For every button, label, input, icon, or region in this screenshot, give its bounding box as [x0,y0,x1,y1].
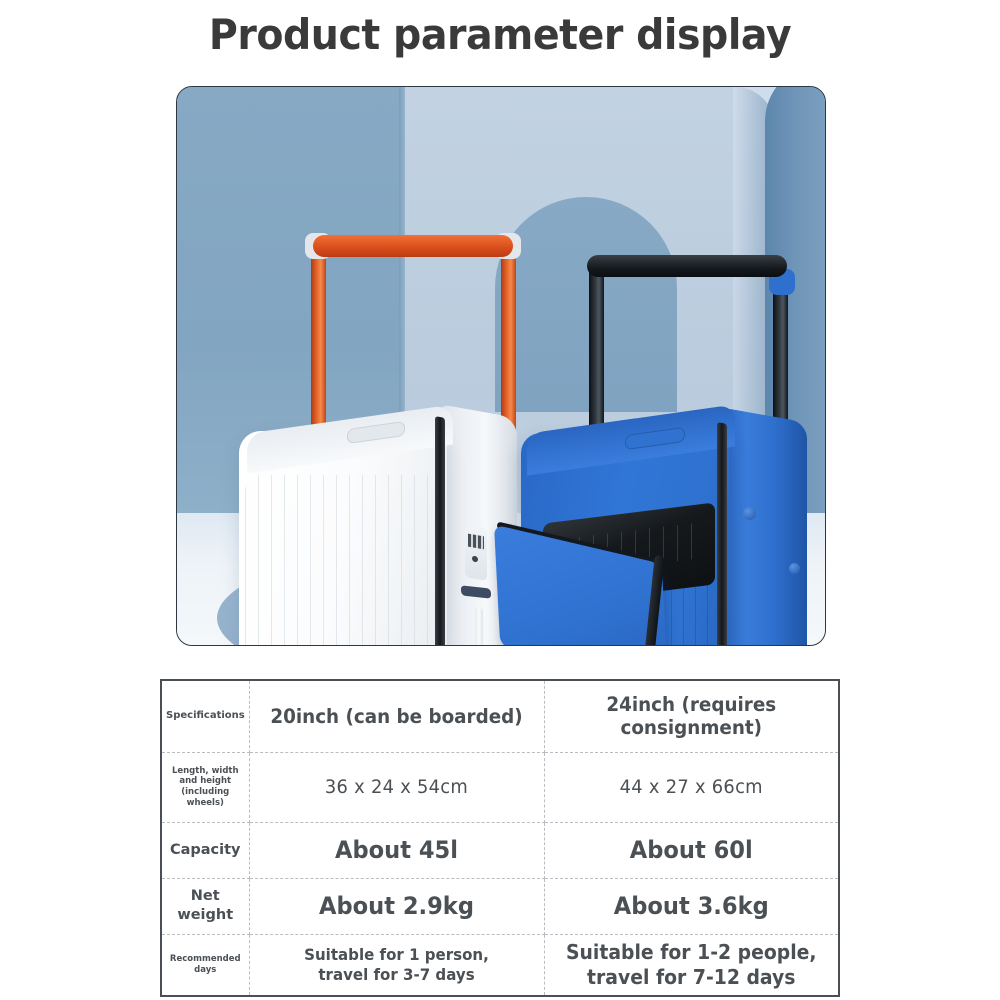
tsa-lock-button [472,555,478,562]
label-line: Length, width [172,766,239,776]
zipper-track-white [435,416,445,646]
label-line: (including [181,787,229,797]
corner-stud [789,563,800,574]
row-label-capacity: Capacity [161,822,249,878]
label-line: and height [179,776,231,786]
table-row: Net weight About 2.9kg About 3.6kg [161,878,839,934]
cell-line: Suitable for 1 person, [304,945,489,964]
label-line: days [194,965,216,975]
cell-20inch-dimensions: 36 x 24 x 54cm [258,752,535,822]
wide-handle-black [587,255,787,277]
cell-line: travel for 3-7 days [318,965,474,984]
suitcase-white-ribbing [245,475,441,646]
cell-24inch-header: 24inch (requires consignment) [553,680,830,752]
table-row: Recommended days Suitable for 1 person, … [161,934,839,996]
cell-20inch-net-weight: About 2.9kg [258,878,535,934]
corner-stud [743,507,756,520]
trolley-post-left-orange [311,247,326,447]
table-row: Length, width and height (including whee… [161,752,839,822]
studio-scene [177,87,825,645]
row-label-specifications: Specifications [161,680,249,752]
label-line: Recommended [170,954,241,964]
table-row: Specifications 20inch (can be boarded) 2… [161,680,839,752]
row-label-net-weight: Net weight [161,878,249,934]
cell-24inch-dimensions: 44 x 27 x 66cm [553,752,830,822]
specification-table: Specifications 20inch (can be boarded) 2… [160,679,840,997]
cell-24inch-capacity: About 60l [553,822,830,878]
cell-line: Suitable for 1-2 people, [566,940,817,964]
table-row: Capacity About 45l About 60l [161,822,839,878]
product-image-panel [176,86,826,646]
row-label-dimensions: Length, width and height (including whee… [161,752,249,822]
page-title: Product parameter display [30,0,970,70]
cell-20inch-header: 20inch (can be boarded) [258,680,535,752]
cell-20inch-recommended-days: Suitable for 1 person, travel for 3-7 da… [258,934,535,996]
zipper-track-blue [717,422,727,646]
suitcase-blue-24inch [507,255,826,646]
wide-handle-orange [313,235,513,257]
cell-20inch-capacity: About 45l [258,822,535,878]
suitcase-white-20inch [239,235,529,646]
side-strap-white [475,606,483,646]
row-label-recommended-days: Recommended days [161,934,249,996]
cell-line: travel for 7-12 days [587,965,795,989]
label-line: wheels) [187,798,224,808]
cell-24inch-net-weight: About 3.6kg [553,878,830,934]
cell-24inch-recommended-days: Suitable for 1-2 people, travel for 7-12… [553,934,830,996]
tsa-lock-dials [468,534,484,550]
